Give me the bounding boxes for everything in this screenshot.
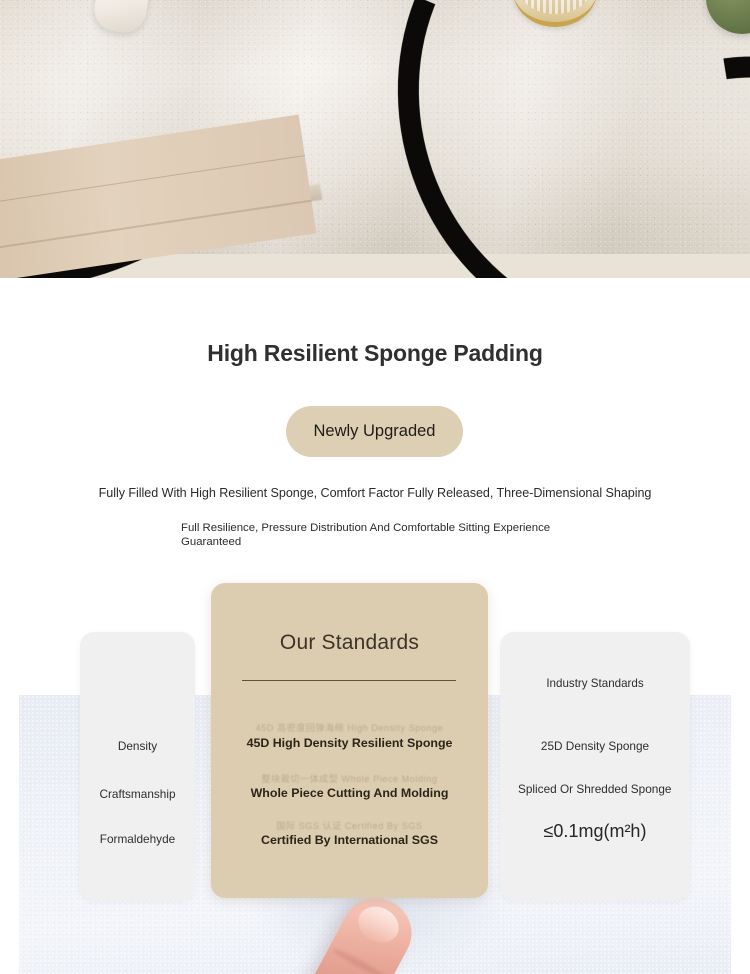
industry-row-craftsmanship: Spliced Or Shredded Sponge xyxy=(518,782,678,796)
ghost-text-craftsmanship: 整块裁切一体成型 Whole Piece Molding xyxy=(211,772,488,785)
content-band: High Resilient Sponge Padding Newly Upgr… xyxy=(0,278,750,974)
industry-standards-heading: Industry Standards xyxy=(500,677,690,690)
title-divider xyxy=(242,680,456,681)
attribute-label-density: Density xyxy=(80,739,195,753)
hero-rug-photo xyxy=(0,0,750,278)
industry-row-density: 25D Density Sponge xyxy=(500,739,690,753)
attributes-card: Density Craftsmanship Formaldehyde xyxy=(80,632,195,900)
ghost-text-formaldehyde: 国际 SGS 认证 Certified By SGS xyxy=(211,819,488,832)
ghost-text-density: 45D 高密度回弹海绵 High Density Sponge xyxy=(211,721,488,734)
our-standards-title: Our Standards xyxy=(211,631,488,655)
attribute-label-craftsmanship: Craftsmanship xyxy=(80,787,195,801)
page-title: High Resilient Sponge Padding xyxy=(0,340,750,367)
industry-standards-card: Industry Standards 25D Density Sponge Sp… xyxy=(500,632,690,900)
industry-row-formaldehyde: ≤0.1mg(m²h) xyxy=(500,824,690,838)
description-sub: Full Resilience, Pressure Distribution A… xyxy=(181,521,581,549)
product-detail-page: High Resilient Sponge Padding Newly Upgr… xyxy=(0,0,750,974)
attribute-label-formaldehyde: Formaldehyde xyxy=(80,832,195,846)
our-row-formaldehyde: Certified By International SGS xyxy=(211,833,488,847)
description-main: Fully Filled With High Resilient Sponge,… xyxy=(0,486,750,500)
our-row-density: 45D High Density Resilient Sponge xyxy=(211,736,488,750)
our-standards-card: Our Standards 45D 高密度回弹海绵 High Density S… xyxy=(211,583,488,898)
our-row-craftsmanship: Whole Piece Cutting And Molding xyxy=(211,786,488,800)
status-badge: Newly Upgraded xyxy=(286,406,463,457)
